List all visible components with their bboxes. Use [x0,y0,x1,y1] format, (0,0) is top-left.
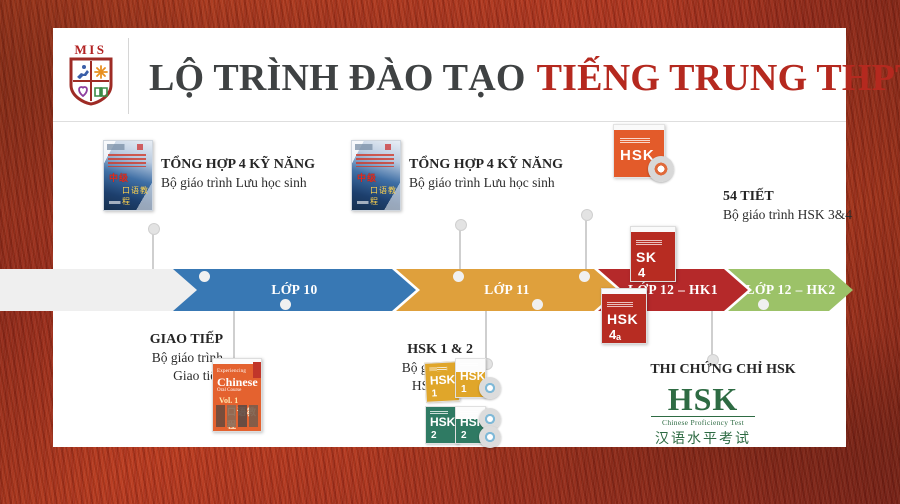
hsk4-red-book-front-icon: HSK 4ₐ [601,288,647,344]
hsk3-lines [620,138,650,143]
blue-textbook-cn: 中级 [357,171,377,184]
top-block-3: HSK SK 4 HSK 4ₐ 54 TIẾT Bộ giáo trình HS… [601,124,653,290]
bottom-block-3-text: THI CHỨNG CHỈ HSK [623,361,823,379]
bottom-block-1-sub-line1: Bộ giáo trình [78,349,223,367]
bottom-block-1-title: GIAO TIẾP [78,331,223,349]
hsk4b-label: SK [636,249,656,265]
hsk1b-lines [460,363,478,367]
blue-textbook-cn: 中级 [109,171,129,184]
timeline-node-1-top [199,271,210,282]
timeline: LỚP 10 LỚP 11 LỚP 12 – HK1 LỚP 12 – HK2 [0,269,853,311]
timeline-stage-lop-12-hk2-label: LỚP 12 – HK2 [746,282,836,298]
hsk4b-num: 4 [638,265,645,280]
experiencing-chinese-book-icon: Experiencing Chinese Oral Course Vol. 1 … [212,358,262,432]
hsk4-red-book-back-icon: SK 4 [630,226,676,282]
connector-top-1 [152,228,154,269]
hsk-logo-chinese: 汉语水平考试 [623,428,783,448]
ec-line3: Oral Course [217,388,241,393]
page-title: LỘ TRÌNH ĐÀO TẠO TIẾNG TRUNG THPT [149,48,840,108]
ec-photo-strip [216,405,258,427]
cd-disc-icon [479,377,501,399]
blue-textbook-footer [109,201,147,204]
timeline-node-1-bottom [280,299,291,310]
hsk2-book-front: HSK 2 [425,406,459,444]
ec-line4: Vol. 1 [219,396,238,405]
bottom-block-1-text: GIAO TIẾP Bộ giáo trình Giao tiếp [78,331,223,385]
top-block-1: 中级 口语教程 TỔNG HỢP 4 KỸ NĂNG Bộ giáo trình… [103,140,153,211]
top-block-1-title: TỔNG HỢP 4 KỸ NĂNG [161,156,315,174]
hsk-logo-wordmark: HSK [623,383,783,415]
hsk4a-num: 4ₐ [609,327,621,342]
timeline-node-2-top [453,271,464,282]
top-block-2-sub: Bộ giáo trình Lưu học sinh [409,174,563,192]
page-title-primary: LỘ TRÌNH ĐÀO TẠO [149,56,526,100]
connector-bottom-2 [485,311,487,365]
top-block-1-sub: Bộ giáo trình Lưu học sinh [161,174,315,192]
connector-top-2 [459,224,461,269]
hsk4b-lines [636,240,662,245]
hsk-logo-tagline: Chinese Proficiency Test [623,418,783,427]
blue-textbook-footer [357,201,395,204]
page-title-accent: TIẾNG TRUNG THPT [537,56,900,100]
hsk1-num: 1 [431,388,437,399]
timeline-node-3-bottom [758,299,769,310]
mis-logo: MIS [53,28,128,121]
blue-textbook-icon: 中级 口语教程 [351,140,401,211]
blue-textbook-icon: 中级 口语教程 [103,140,153,211]
hsk-official-logo: HSK Chinese Proficiency Test 汉语水平考试 [623,383,783,448]
timeline-stage-lop-11-label: LỚP 11 [484,282,530,298]
timeline-node-2-bottom [532,299,543,310]
hsk1-lines [429,367,447,372]
ec-line1: Experiencing [217,369,246,374]
hsk2-num: 2 [431,430,437,441]
hsk2-label: HSK [430,415,455,429]
timeline-node-3-top [579,271,590,282]
top-block-2: 中级 口语教程 TỔNG HỢP 4 KỸ NĂNG Bộ giáo trình… [351,140,401,211]
sun-icon [95,66,107,78]
logo-divider [128,38,129,114]
cd-disc-icon-3 [479,426,501,448]
hsk4a-lines [607,302,633,307]
hsk1b-num: 1 [461,384,467,395]
hsk4a-label: HSK [607,311,638,327]
bottom-block-1-sub-line2: Giao tiếp [78,367,223,385]
timeline-stage-lop-10-label: LỚP 10 [271,282,317,298]
top-block-3-sub: Bộ giáo trình HSK 3&4 [723,206,852,224]
connector-bottom-1 [233,311,235,365]
top-block-2-title: TỔNG HỢP 4 KỸ NĂNG [409,156,563,174]
bottom-block-3-title: THI CHỨNG CHỈ HSK [623,361,823,379]
bottom-block-2-title: HSK 1 & 2 [328,341,473,359]
mis-wordmark: MIS [64,43,118,56]
header-divider [53,121,846,122]
hsk2b-num: 2 [461,430,467,441]
infographic-card: MIS [53,28,846,447]
cd-disc-icon [648,156,674,182]
shield-icon [69,57,113,106]
header: MIS [53,28,846,121]
connector-top-3 [585,214,587,269]
hsk1-label: HSK [430,372,456,387]
top-block-3-title: 54 TIẾT [723,188,852,206]
connector-bottom-3 [711,311,713,361]
hsk12-books-icon: HSK 1 HSK 1 HSK 2 HSK 2 [425,358,503,446]
